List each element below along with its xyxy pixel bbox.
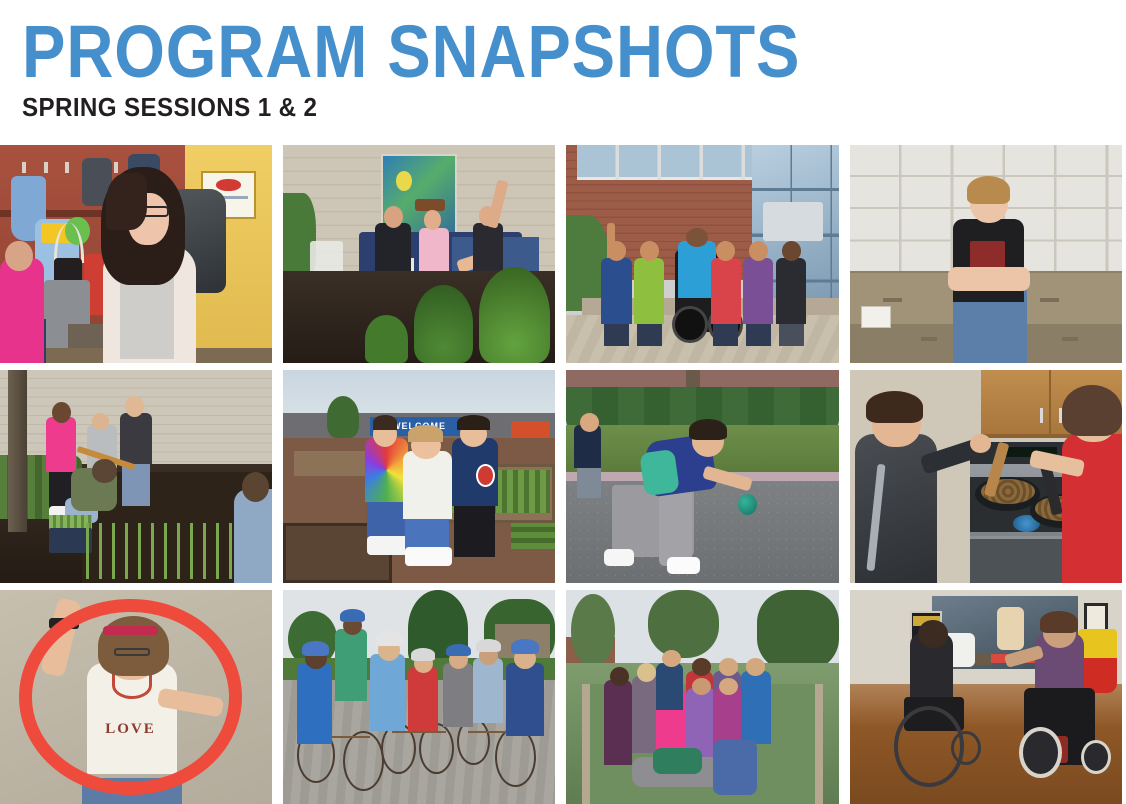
photo-7-scene xyxy=(566,370,839,583)
gallery-photo-1[interactable]: Young woman wearing a large backpack in … xyxy=(0,145,272,363)
gallery-photo-4[interactable]: Teenager in a black Magneto t-shirt seat… xyxy=(850,145,1122,363)
poster-page: PROGRAM SNAPSHOTS SPRING SESSIONS 1 & 2 xyxy=(0,0,1126,804)
gallery-photo-7[interactable]: Participant in a blue and teal jacket bo… xyxy=(566,370,839,583)
gallery-photo-10[interactable]: Group of cyclists in helmets posing with… xyxy=(283,590,555,804)
photo-2-scene xyxy=(283,145,555,363)
gallery-photo-3[interactable]: Group of participants seated on a low wa… xyxy=(566,145,839,363)
photo-5-scene xyxy=(0,370,272,583)
page-title: PROGRAM SNAPSHOTS xyxy=(22,16,994,87)
photo-6-scene: WELCOME xyxy=(283,370,555,583)
photo-12-scene xyxy=(850,590,1122,804)
photo-3-scene xyxy=(566,145,839,363)
gallery-photo-11[interactable]: Large group photo on a green bocce court… xyxy=(566,590,839,804)
photo-1-scene xyxy=(0,145,272,363)
poster-header: PROGRAM SNAPSHOTS SPRING SESSIONS 1 & 2 xyxy=(0,0,1126,121)
page-subtitle: SPRING SESSIONS 1 & 2 xyxy=(22,94,1049,121)
photo-10-scene xyxy=(283,590,555,804)
gallery-photo-9[interactable]: LOVE Woman in a LOVE t-shirt spinning a … xyxy=(0,590,272,804)
gallery-photo-2[interactable]: Three participants sitting on a bench in… xyxy=(283,145,555,363)
gallery-photo-6[interactable]: WELCOME Three friends smiling at a commu… xyxy=(283,370,555,583)
photo-gallery-grid: Young woman wearing a large backpack in … xyxy=(0,145,1126,804)
gallery-photo-12[interactable]: Two wheelchair users facing a projected … xyxy=(850,590,1122,804)
photo-4-scene xyxy=(850,145,1122,363)
gallery-photo-5[interactable]: Volunteers planting seedlings in a dark … xyxy=(0,370,272,583)
photo-9-scene: LOVE xyxy=(0,590,272,804)
photo-8-scene xyxy=(850,370,1122,583)
gallery-photo-8[interactable]: Two participants cooking pancakes in ski… xyxy=(850,370,1122,583)
photo-11-scene xyxy=(566,590,839,804)
